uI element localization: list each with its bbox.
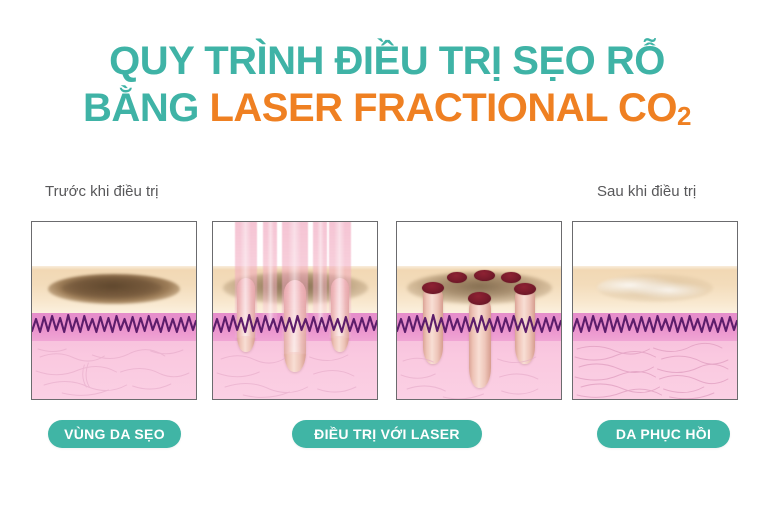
collagen-fibers-icon (397, 341, 561, 400)
title-line-1: QUY TRÌNH ĐIỀU TRỊ SẸO RỖ (0, 38, 774, 85)
pill-label-laser-treatment[interactable]: ĐIỀU TRỊ VỚI LASER (292, 420, 482, 448)
scar-crater-core (62, 278, 162, 298)
collagen-fibers-dense-icon (573, 341, 737, 400)
infographic-root: QUY TRÌNH ĐIỀU TRỊ SẸO RỖ BẰNG LASER FRA… (0, 0, 774, 515)
channel-opening-pore (474, 270, 495, 281)
layer-air (397, 222, 561, 266)
panel-micro-channels (396, 221, 562, 400)
panel-scarred-skin (31, 221, 197, 400)
title-line-2-highlight: LASER FRACTIONAL CO (209, 86, 677, 130)
layer-air (32, 222, 196, 266)
title-line-2: BẰNG LASER FRACTIONAL CO2 (0, 85, 774, 136)
epidermis-highlight (32, 266, 196, 270)
channel-opening-pore (422, 282, 444, 294)
epidermis-highlight (573, 266, 737, 270)
page-title: QUY TRÌNH ĐIỀU TRỊ SẸO RỖ BẰNG LASER FRA… (0, 38, 774, 136)
panel-laser-treatment (212, 221, 378, 400)
healed-residual-mark (597, 274, 713, 302)
channel-opening-pore (501, 272, 521, 283)
channel-opening-pore (468, 292, 491, 305)
panel-recovered-skin (572, 221, 738, 400)
title-line-2-prefix: BẰNG (83, 86, 209, 130)
epidermis-highlight (397, 266, 561, 270)
collagen-fibers-icon (32, 341, 196, 400)
caption-before-treatment: Trước khi điều trị (45, 183, 159, 200)
pill-label-recovered-skin[interactable]: DA PHỤC HỒI (597, 420, 730, 448)
collagen-fibers-icon (213, 341, 377, 400)
title-subscript-2: 2 (677, 101, 691, 131)
layer-air (573, 222, 737, 266)
caption-after-treatment: Sau khi điều trị (597, 183, 696, 200)
channel-opening-pore (514, 283, 536, 295)
channel-opening-pore (447, 272, 467, 283)
pill-label-scarred-area[interactable]: VÙNG DA SẸO (48, 420, 181, 448)
